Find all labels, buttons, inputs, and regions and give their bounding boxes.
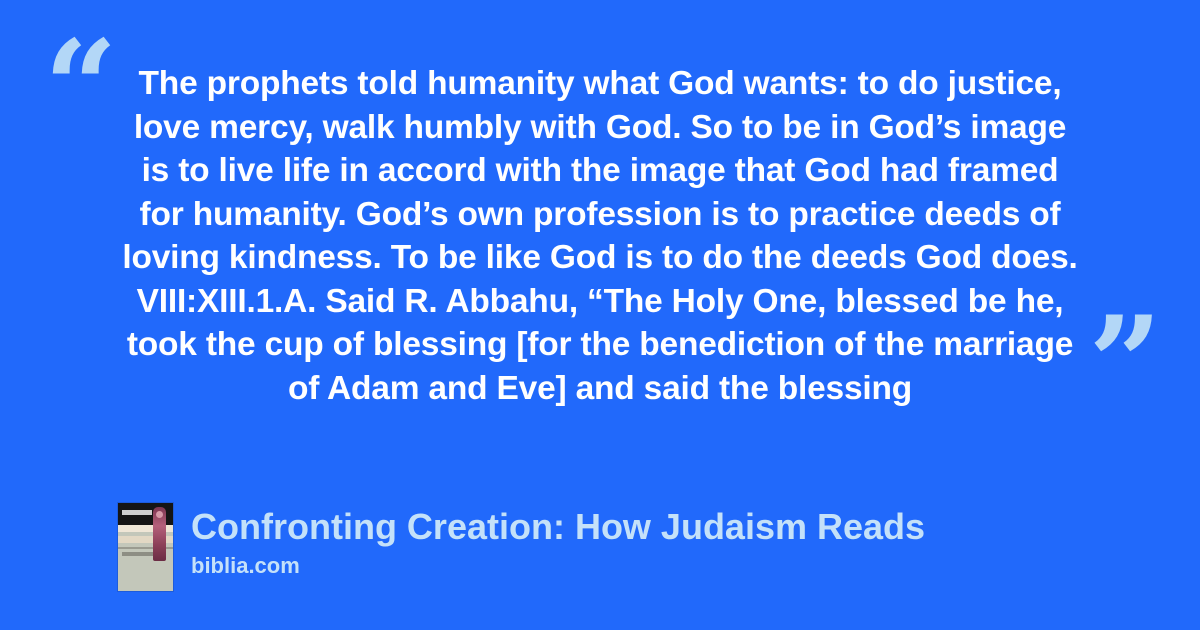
opening-quotation-mark-icon: “ [44, 24, 118, 152]
quote-text-block: The prophets told humanity what God want… [112, 62, 1088, 410]
site-name: biblia.com [191, 551, 925, 581]
footer-text-group: Confronting Creation: How Judaism Reads … [191, 503, 925, 581]
book-cover-thumbnail [118, 503, 173, 591]
cover-subtitle-bar [122, 552, 156, 556]
quote-line: The prophets told humanity what God want… [112, 62, 1088, 106]
quote-card: “ The prophets told humanity what God wa… [0, 0, 1200, 630]
quote-line: VIII:XIII.1.A. Said R. Abbahu, “The Holy… [112, 280, 1088, 324]
book-title: Confronting Creation: How Judaism Reads [191, 505, 925, 549]
closing-quotation-mark-icon: ” [1088, 300, 1162, 428]
quote-line: is to live life in accord with the image… [112, 149, 1088, 193]
cover-title-bar [122, 510, 152, 515]
quote-line: loving kindness. To be like God is to do… [112, 236, 1088, 280]
cover-figure-head [156, 511, 163, 518]
footer-attribution: Confronting Creation: How Judaism Reads … [118, 503, 925, 591]
quote-line: of Adam and Eve] and said the blessing [112, 367, 1088, 411]
quote-line: for humanity. God’s own profession is to… [112, 193, 1088, 237]
quote-line: took the cup of blessing [for the benedi… [112, 323, 1088, 367]
quote-line: love mercy, walk humbly with God. So to … [112, 106, 1088, 150]
